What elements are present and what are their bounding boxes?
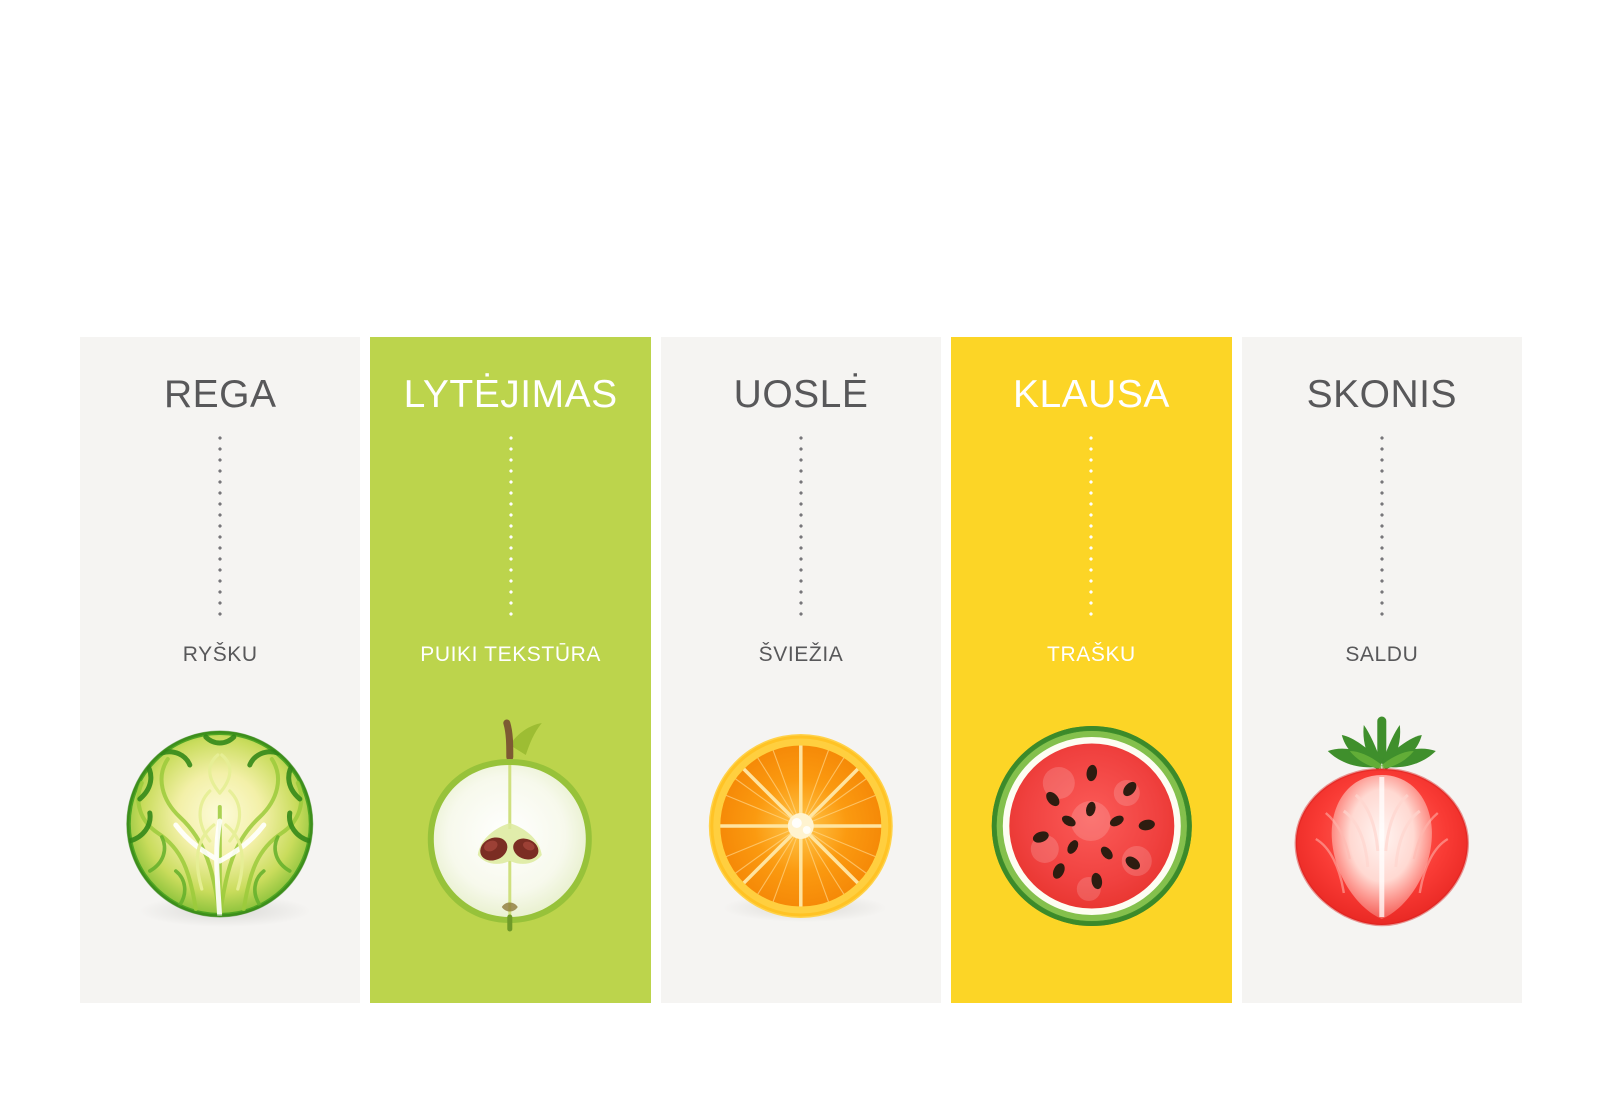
dotted-connector (1380, 436, 1384, 622)
sense-title: LYTĖJIMAS (404, 375, 618, 414)
sense-title: UOSLĖ (734, 375, 869, 414)
apple-half-icon (370, 711, 650, 941)
sense-attribute: TRAŠKU (1047, 644, 1136, 665)
dotted-connector (1089, 436, 1093, 622)
sense-column-sight[interactable]: REGA RYŠKU (80, 337, 360, 1003)
cabbage-half-icon (80, 711, 360, 941)
senses-infographic: REGA RYŠKU (80, 337, 1522, 1003)
sense-title: REGA (164, 375, 277, 414)
watermelon-slice-icon (951, 711, 1231, 941)
sense-column-touch[interactable]: LYTĖJIMAS PUIKI TEKSTŪRA (370, 337, 650, 1003)
sense-title: SKONIS (1307, 375, 1457, 414)
orange-slice-icon (661, 711, 941, 941)
sense-column-smell[interactable]: UOSLĖ ŠVIEŽIA (661, 337, 941, 1003)
dotted-connector (218, 436, 222, 622)
sense-column-taste[interactable]: SKONIS SALDU (1242, 337, 1522, 1003)
sense-title: KLAUSA (1013, 375, 1170, 414)
strawberry-half-icon (1242, 711, 1522, 941)
sense-attribute: SALDU (1345, 644, 1418, 665)
sense-attribute: RYŠKU (183, 644, 258, 665)
dotted-connector (799, 436, 803, 622)
sense-attribute: ŠVIEŽIA (759, 644, 844, 665)
sense-attribute: PUIKI TEKSTŪRA (420, 644, 601, 665)
sense-column-hearing[interactable]: KLAUSA TRAŠKU (951, 337, 1231, 1003)
dotted-connector (509, 436, 513, 622)
